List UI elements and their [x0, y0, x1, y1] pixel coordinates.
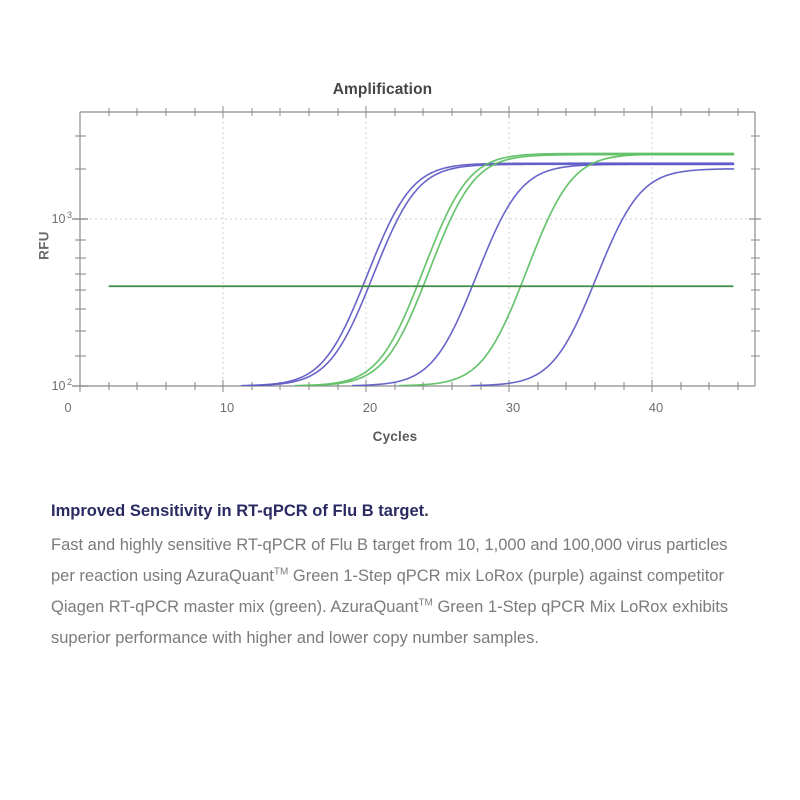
caption-headline: Improved Sensitivity in RT-qPCR of Flu B…	[51, 502, 424, 520]
amplification-curve	[249, 164, 734, 385]
figure-root: Amplification RFU Cycles 103 102 0 10 20…	[0, 0, 800, 800]
caption-trailing-artifact	[539, 631, 543, 646]
trademark-symbol-1: TM	[274, 567, 288, 578]
amplification-curve	[303, 155, 734, 386]
amplification-curves	[242, 153, 734, 385]
caption-headline-period: .	[424, 502, 429, 520]
figure-caption: Improved Sensitivity in RT-qPCR of Flu B…	[51, 496, 751, 654]
caption-body: Fast and highly sensitive RT-qPCR of Flu…	[51, 527, 751, 654]
amplification-curve	[295, 153, 733, 385]
trademark-symbol-2: TM	[418, 598, 432, 609]
amplification-chart: Amplification RFU Cycles 103 102 0 10 20…	[0, 0, 800, 470]
chart-plot-svg	[0, 0, 800, 470]
amplification-curve	[400, 154, 734, 386]
